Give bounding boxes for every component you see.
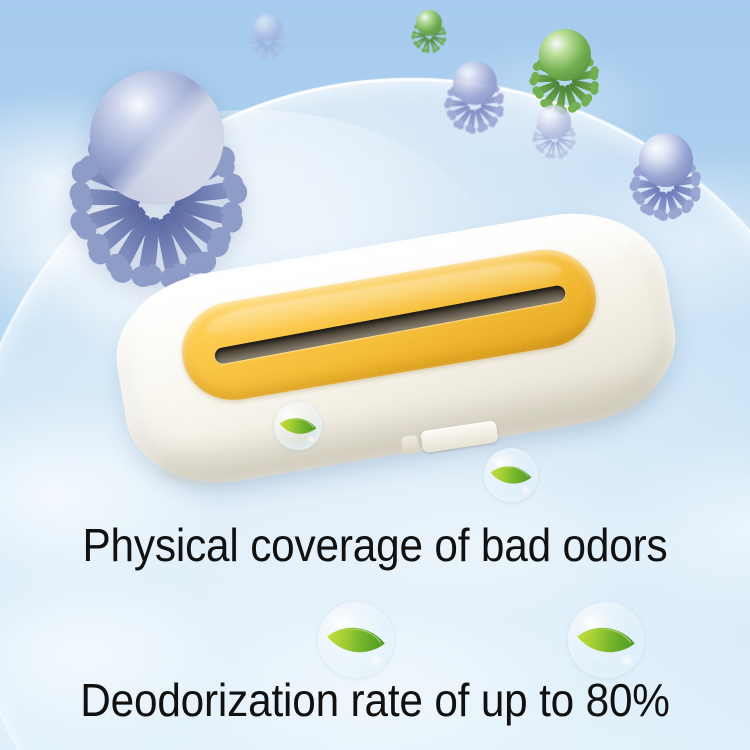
latch-notch — [401, 435, 420, 455]
headline-primary: Physical coverage of bad odors — [30, 518, 720, 572]
headline-secondary: Deodorization rate of up to 80% — [30, 673, 720, 727]
product-marketing-image: Physical coverage of bad odors Deodoriza… — [0, 0, 750, 750]
